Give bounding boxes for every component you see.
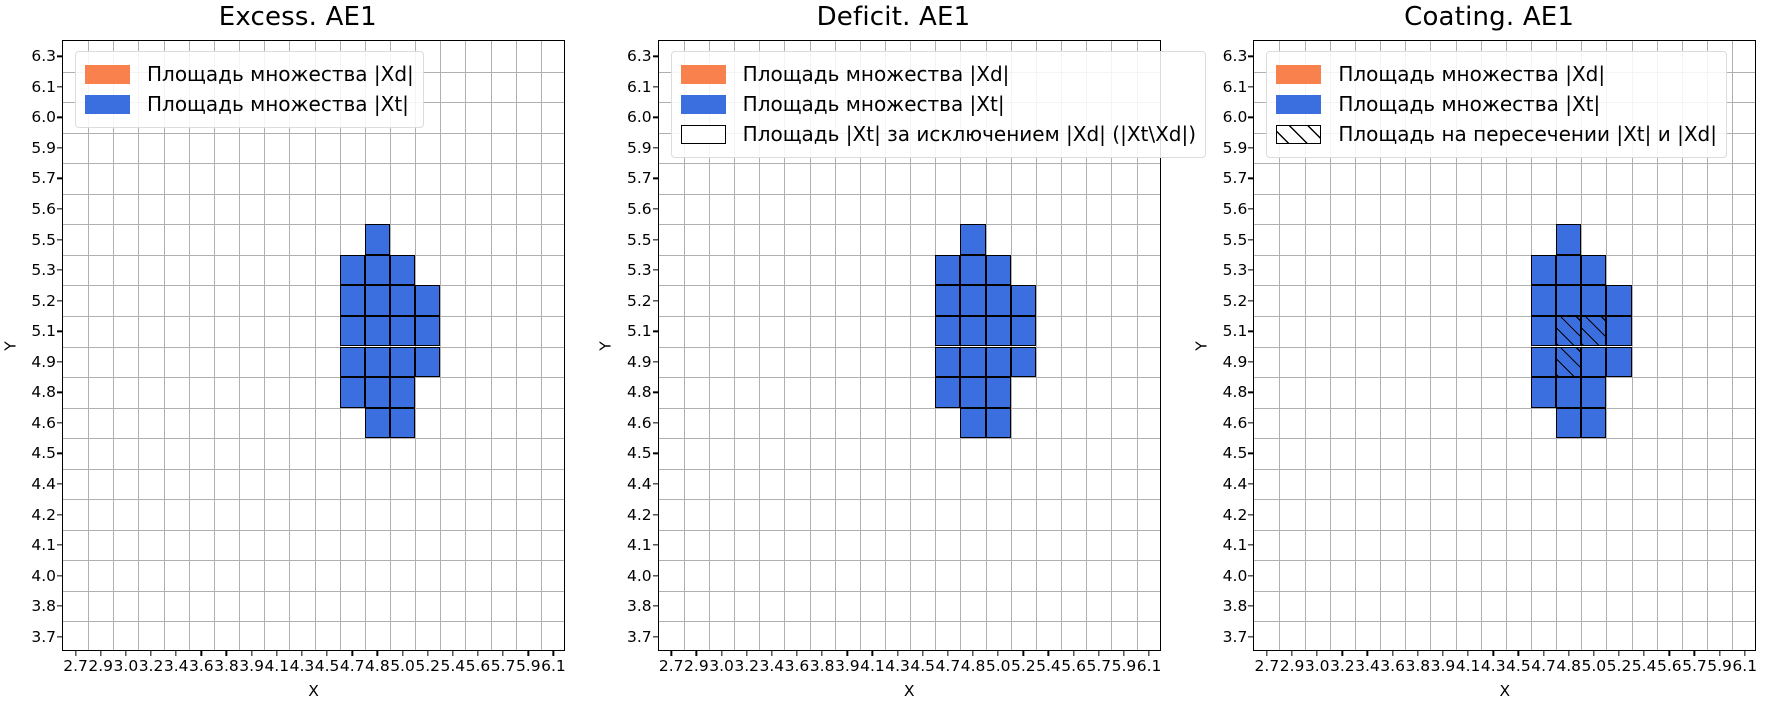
grid-line-horizontal xyxy=(1254,469,1755,470)
x-tick-mark xyxy=(1098,650,1099,656)
legend-swatch-hatch-icon xyxy=(1276,125,1321,144)
grid-line-horizontal xyxy=(659,347,1160,348)
y-tick-label: 5.6 xyxy=(31,200,56,218)
y-tick-label: 3.7 xyxy=(1223,628,1248,646)
x-tick-mark xyxy=(125,650,126,656)
x-tick-label: 4.5 xyxy=(910,657,935,675)
grid-line-horizontal xyxy=(659,408,1160,409)
y-tick-label: 4.8 xyxy=(1223,383,1248,401)
x-tick-mark xyxy=(1342,650,1343,656)
y-tick-label: 4.6 xyxy=(1223,414,1248,432)
x-tick-label: 2.9 xyxy=(1280,657,1305,675)
grid-cell-xt xyxy=(960,408,985,439)
y-tick-label: 5.1 xyxy=(627,322,652,340)
grid-line-horizontal xyxy=(1254,224,1755,225)
grid-cell-xt xyxy=(1606,347,1631,378)
legend-label-xt: Площадь множества |Xt| xyxy=(1338,94,1600,114)
y-tick-mark xyxy=(1248,544,1254,545)
y-tick-mark xyxy=(57,575,63,576)
grid-line-horizontal xyxy=(659,621,1160,622)
y-tick-mark xyxy=(1248,331,1254,332)
grid-line-horizontal xyxy=(63,133,564,134)
x-tick-mark xyxy=(1023,650,1024,656)
y-tick-mark xyxy=(653,86,659,87)
legend-label-xd: Площадь множества |Xd| xyxy=(743,64,1010,84)
grid-cell-xt xyxy=(365,224,390,255)
x-tick-label: 4.1 xyxy=(1456,657,1481,675)
x-tick-mark xyxy=(1442,650,1443,656)
grid-cell-xt xyxy=(390,377,415,408)
legend-label-xt: Площадь множества |Xt| xyxy=(147,94,409,114)
x-tick-mark xyxy=(696,650,697,656)
grid-cell-intersection xyxy=(1556,347,1581,378)
y-tick-mark xyxy=(653,331,659,332)
x-tick-label: 3.8 xyxy=(214,657,239,675)
y-tick-mark xyxy=(57,606,63,607)
x-tick-mark xyxy=(352,650,353,656)
y-tick-label: 5.3 xyxy=(31,261,56,279)
y-tick-label: 6.3 xyxy=(31,47,56,65)
y-tick-label: 4.9 xyxy=(31,353,56,371)
grid-cell-xt xyxy=(365,377,390,408)
y-tick-mark xyxy=(653,269,659,270)
x-tick-mark xyxy=(553,650,554,656)
x-tick-label: 5.6 xyxy=(1657,657,1682,675)
x-tick-mark xyxy=(947,650,948,656)
x-tick-label: 3.9 xyxy=(1431,657,1456,675)
grid-cell-xt xyxy=(1556,408,1581,439)
y-tick-mark xyxy=(653,361,659,362)
y-tick-label: 6.1 xyxy=(1223,78,1248,96)
y-tick-mark xyxy=(1248,269,1254,270)
x-tick-label: 4.3 xyxy=(1481,657,1506,675)
grid-cell-xt xyxy=(340,255,365,286)
x-tick-label: 3.8 xyxy=(810,657,835,675)
y-tick-label: 5.2 xyxy=(1223,292,1248,310)
grid-cell-xt xyxy=(1581,285,1606,316)
y-tick-label: 5.2 xyxy=(627,292,652,310)
y-tick-mark xyxy=(653,300,659,301)
x-tick-label: 3.4 xyxy=(1355,657,1380,675)
y-tick-label: 6.0 xyxy=(31,108,56,126)
x-tick-mark xyxy=(1123,650,1124,656)
y-tick-mark xyxy=(57,178,63,179)
grid-line-horizontal xyxy=(659,591,1160,592)
x-tick-mark xyxy=(847,650,848,656)
grid-cell-xt xyxy=(415,285,440,316)
grid-cell-xt xyxy=(390,255,415,286)
panel-deficit: Deficit. AE1 Площадь множества |Xd| Площ… xyxy=(596,0,1192,709)
panel-title-deficit: Deficit. AE1 xyxy=(596,2,1192,32)
grid-cell-xt xyxy=(960,255,985,286)
grid-cell-xt xyxy=(986,377,1011,408)
x-tick-label: 5.7 xyxy=(1086,657,1111,675)
y-tick-label: 4.0 xyxy=(627,567,652,585)
grid-line-horizontal xyxy=(63,560,564,561)
x-tick-mark xyxy=(502,650,503,656)
grid-line-horizontal xyxy=(63,377,564,378)
y-tick-label: 5.1 xyxy=(1223,322,1248,340)
axes-deficit: Площадь множества |Xd| Площадь множества… xyxy=(658,40,1161,651)
x-tick-label: 5.6 xyxy=(1061,657,1086,675)
legend-row-xd: Площадь множества |Xd| xyxy=(1276,59,1717,89)
y-tick-label: 4.4 xyxy=(1223,475,1248,493)
y-tick-label: 4.5 xyxy=(31,444,56,462)
y-tick-mark xyxy=(57,117,63,118)
y-tick-label: 5.7 xyxy=(31,169,56,187)
grid-cell-xt xyxy=(390,285,415,316)
x-tick-label: 4.1 xyxy=(860,657,885,675)
y-tick-label: 6.1 xyxy=(627,78,652,96)
y-tick-mark xyxy=(1248,636,1254,637)
grid-cell-xt xyxy=(1581,377,1606,408)
x-tick-mark xyxy=(1618,650,1619,656)
legend-row-xt: Площадь множества |Xt| xyxy=(85,89,414,119)
x-tick-label: 2.9 xyxy=(88,657,113,675)
legend-label-xt-minus-xd: Площадь |Xt| за исключением |Xd| (|Xt\Xd… xyxy=(743,124,1196,144)
grid-line-horizontal xyxy=(659,530,1160,531)
y-tick-mark xyxy=(1248,239,1254,240)
grid-line-horizontal xyxy=(63,347,564,348)
grid-cell-xt xyxy=(415,347,440,378)
x-tick-mark xyxy=(1317,650,1318,656)
x-tick-mark xyxy=(796,650,797,656)
grid-line-horizontal xyxy=(1254,163,1755,164)
x-tick-label: 2.7 xyxy=(63,657,88,675)
y-tick-label: 5.2 xyxy=(31,292,56,310)
x-tick-label: 4.8 xyxy=(961,657,986,675)
x-tick-label: 5.9 xyxy=(1112,657,1137,675)
y-tick-mark xyxy=(653,636,659,637)
grid-line-horizontal xyxy=(659,469,1160,470)
x-tick-label: 4.1 xyxy=(264,657,289,675)
xaxis-label-deficit: X xyxy=(659,682,1160,700)
x-tick-mark xyxy=(1543,650,1544,656)
grid-cell-xt xyxy=(1011,285,1036,316)
y-tick-mark xyxy=(57,636,63,637)
legend-row-xt-minus-xd: Площадь |Xt| за исключением |Xd| (|Xt\Xd… xyxy=(681,119,1196,149)
y-tick-label: 4.2 xyxy=(627,506,652,524)
y-tick-label: 4.6 xyxy=(627,414,652,432)
x-tick-mark xyxy=(1694,650,1695,656)
x-tick-label: 2.9 xyxy=(684,657,709,675)
grid-cell-xt xyxy=(960,347,985,378)
yaxis-label-deficit: Y xyxy=(597,341,615,350)
x-tick-mark xyxy=(746,650,747,656)
grid-line-horizontal xyxy=(1254,194,1755,195)
grid-cell-xt xyxy=(1606,316,1631,347)
y-tick-label: 3.7 xyxy=(627,628,652,646)
y-tick-mark xyxy=(57,331,63,332)
grid-cell-xt xyxy=(340,347,365,378)
y-tick-mark xyxy=(1248,86,1254,87)
grid-cell-xt xyxy=(365,285,390,316)
y-tick-mark xyxy=(57,361,63,362)
x-tick-label: 3.6 xyxy=(785,657,810,675)
y-tick-label: 5.7 xyxy=(1223,169,1248,187)
legend-swatch-open-icon xyxy=(681,125,726,144)
y-tick-label: 5.3 xyxy=(627,261,652,279)
legend-label-xt: Площадь множества |Xt| xyxy=(743,94,1005,114)
x-tick-label: 5.6 xyxy=(466,657,491,675)
x-tick-label: 3.6 xyxy=(1380,657,1405,675)
grid-line-horizontal xyxy=(659,438,1160,439)
grid-line-horizontal xyxy=(659,255,1160,256)
x-tick-mark xyxy=(922,650,923,656)
x-tick-mark xyxy=(251,650,252,656)
x-tick-mark xyxy=(1291,650,1292,656)
x-tick-mark xyxy=(998,650,999,656)
legend-label-xd: Площадь множества |Xd| xyxy=(1338,64,1605,84)
grid-line-horizontal xyxy=(659,499,1160,500)
grid-cell-xt xyxy=(415,316,440,347)
x-tick-label: 3.2 xyxy=(139,657,164,675)
xaxis-label-coating: X xyxy=(1254,682,1755,700)
x-tick-mark xyxy=(1744,650,1745,656)
x-tick-label: 3.2 xyxy=(1330,657,1355,675)
legend-swatch-xd-icon xyxy=(681,65,726,84)
panel-title-coating: Coating. AE1 xyxy=(1191,2,1787,32)
x-tick-label: 4.3 xyxy=(290,657,315,675)
grid-line-horizontal xyxy=(1254,285,1755,286)
y-tick-label: 4.2 xyxy=(1223,506,1248,524)
y-tick-label: 5.9 xyxy=(1223,139,1248,157)
grid-line-horizontal xyxy=(63,316,564,317)
x-tick-mark xyxy=(972,650,973,656)
grid-cell-xt xyxy=(960,224,985,255)
grid-cell-xt xyxy=(935,285,960,316)
y-tick-mark xyxy=(653,606,659,607)
y-tick-label: 5.6 xyxy=(627,200,652,218)
y-tick-label: 4.4 xyxy=(31,475,56,493)
x-tick-mark xyxy=(721,650,722,656)
x-tick-label: 3.9 xyxy=(835,657,860,675)
y-tick-mark xyxy=(1248,178,1254,179)
y-tick-mark xyxy=(653,422,659,423)
yaxis-label-excess: Y xyxy=(1,341,19,350)
x-tick-mark xyxy=(226,650,227,656)
x-tick-mark xyxy=(1266,650,1267,656)
legend-row-xt: Площадь множества |Xt| xyxy=(1276,89,1717,119)
grid-line-horizontal xyxy=(659,377,1160,378)
y-tick-mark xyxy=(653,483,659,484)
panel-coating: Coating. AE1 Площадь множества |Xd| Площ… xyxy=(1191,0,1787,709)
grid-cell-xt xyxy=(1531,377,1556,408)
x-tick-label: 3.9 xyxy=(239,657,264,675)
grid-line-horizontal xyxy=(1254,377,1755,378)
y-tick-mark xyxy=(1248,514,1254,515)
grid-line-horizontal xyxy=(1254,347,1755,348)
grid-cell-xt xyxy=(935,347,960,378)
x-tick-label: 4.5 xyxy=(1506,657,1531,675)
x-tick-mark xyxy=(1467,650,1468,656)
grid-line-horizontal xyxy=(63,499,564,500)
grid-cell-xt xyxy=(340,285,365,316)
y-tick-mark xyxy=(57,514,63,515)
grid-line-horizontal xyxy=(659,194,1160,195)
x-tick-label: 3.2 xyxy=(734,657,759,675)
x-tick-label: 3.0 xyxy=(709,657,734,675)
y-tick-mark xyxy=(653,117,659,118)
legend-row-xd: Площадь множества |Xd| xyxy=(85,59,414,89)
x-tick-label: 4.8 xyxy=(1556,657,1581,675)
x-tick-mark xyxy=(1148,650,1149,656)
x-tick-mark xyxy=(671,650,672,656)
grid-line-horizontal xyxy=(63,438,564,439)
x-tick-label: 5.0 xyxy=(390,657,415,675)
y-tick-label: 4.5 xyxy=(1223,444,1248,462)
x-tick-mark xyxy=(427,650,428,656)
grid-cell-xt xyxy=(1606,285,1631,316)
x-tick-mark xyxy=(276,650,277,656)
x-tick-mark xyxy=(100,650,101,656)
grid-line-horizontal xyxy=(63,285,564,286)
y-tick-label: 4.0 xyxy=(1223,567,1248,585)
x-tick-label: 5.7 xyxy=(1682,657,1707,675)
grid-line-horizontal xyxy=(1254,499,1755,500)
grid-cell-xt xyxy=(986,255,1011,286)
grid-line-horizontal xyxy=(659,316,1160,317)
x-tick-mark xyxy=(452,650,453,656)
x-tick-label: 5.4 xyxy=(1632,657,1657,675)
x-tick-mark xyxy=(301,650,302,656)
y-tick-label: 6.3 xyxy=(1223,47,1248,65)
x-tick-label: 6.1 xyxy=(541,657,566,675)
x-tick-label: 2.7 xyxy=(659,657,684,675)
grid-cell-xt xyxy=(1531,255,1556,286)
grid-line-horizontal xyxy=(659,163,1160,164)
grid-cell-intersection xyxy=(1556,316,1581,347)
y-tick-mark xyxy=(57,453,63,454)
grid-cell-intersection xyxy=(1581,316,1606,347)
y-tick-mark xyxy=(57,544,63,545)
grid-cell-xt xyxy=(365,316,390,347)
grid-cell-xt xyxy=(1556,255,1581,286)
y-tick-mark xyxy=(1248,300,1254,301)
y-tick-label: 4.1 xyxy=(1223,536,1248,554)
grid-cell-xt xyxy=(1011,347,1036,378)
y-tick-label: 4.2 xyxy=(31,506,56,524)
x-tick-mark xyxy=(1417,650,1418,656)
grid-cell-xt xyxy=(1011,316,1036,347)
x-tick-mark xyxy=(1568,650,1569,656)
y-tick-label: 3.7 xyxy=(31,628,56,646)
y-tick-mark xyxy=(57,208,63,209)
grid-cell-xt xyxy=(935,255,960,286)
y-tick-mark xyxy=(653,56,659,57)
y-tick-mark xyxy=(1248,422,1254,423)
x-tick-label: 5.4 xyxy=(1036,657,1061,675)
y-tick-label: 5.5 xyxy=(31,231,56,249)
grid-cell-xt xyxy=(960,316,985,347)
grid-line-horizontal xyxy=(1254,316,1755,317)
x-tick-mark xyxy=(1518,650,1519,656)
grid-line-horizontal xyxy=(63,194,564,195)
y-tick-mark xyxy=(1248,147,1254,148)
y-tick-mark xyxy=(57,392,63,393)
x-tick-mark xyxy=(1643,650,1644,656)
legend-swatch-xt-icon xyxy=(681,95,726,114)
x-tick-mark xyxy=(821,650,822,656)
legend-label-xd: Площадь множества |Xd| xyxy=(147,64,414,84)
y-tick-label: 4.1 xyxy=(627,536,652,554)
x-tick-label: 3.4 xyxy=(164,657,189,675)
x-tick-label: 3.6 xyxy=(189,657,214,675)
x-tick-mark xyxy=(528,650,529,656)
x-tick-mark xyxy=(1367,650,1368,656)
x-tick-label: 3.0 xyxy=(1305,657,1330,675)
y-tick-label: 4.6 xyxy=(31,414,56,432)
y-tick-label: 4.8 xyxy=(627,383,652,401)
y-tick-label: 6.0 xyxy=(627,108,652,126)
grid-line-horizontal xyxy=(659,224,1160,225)
grid-line-horizontal xyxy=(1254,408,1755,409)
grid-cell-xt xyxy=(1531,347,1556,378)
x-tick-label: 6.1 xyxy=(1732,657,1757,675)
x-tick-mark xyxy=(897,650,898,656)
y-tick-label: 6.1 xyxy=(31,78,56,96)
y-tick-label: 5.5 xyxy=(1223,231,1248,249)
y-tick-mark xyxy=(653,147,659,148)
x-tick-mark xyxy=(402,650,403,656)
x-tick-label: 5.4 xyxy=(440,657,465,675)
y-tick-label: 4.8 xyxy=(31,383,56,401)
grid-line-horizontal xyxy=(659,285,1160,286)
x-tick-mark xyxy=(1493,650,1494,656)
y-tick-mark xyxy=(57,86,63,87)
legend-row-xt: Площадь множества |Xt| xyxy=(681,89,1196,119)
y-tick-mark xyxy=(1248,483,1254,484)
x-tick-label: 4.5 xyxy=(315,657,340,675)
x-tick-label: 4.7 xyxy=(936,657,961,675)
y-tick-mark xyxy=(57,239,63,240)
x-tick-label: 5.2 xyxy=(1607,657,1632,675)
grid-cell-xt xyxy=(1531,316,1556,347)
x-tick-label: 4.8 xyxy=(365,657,390,675)
y-tick-label: 3.8 xyxy=(1223,597,1248,615)
grid-cell-xt xyxy=(960,285,985,316)
grid-cell-xt xyxy=(1581,255,1606,286)
y-tick-mark xyxy=(653,514,659,515)
y-tick-label: 4.9 xyxy=(1223,353,1248,371)
x-tick-mark xyxy=(150,650,151,656)
y-tick-mark xyxy=(57,269,63,270)
panel-excess: Excess. AE1 Площадь множества |Xd| Площа… xyxy=(0,0,596,709)
x-tick-mark xyxy=(771,650,772,656)
x-tick-mark xyxy=(1048,650,1049,656)
y-tick-mark xyxy=(57,483,63,484)
grid-cell-xt xyxy=(340,377,365,408)
grid-cell-xt xyxy=(365,347,390,378)
y-tick-label: 5.9 xyxy=(627,139,652,157)
x-tick-label: 5.0 xyxy=(986,657,1011,675)
x-tick-mark xyxy=(326,650,327,656)
x-tick-label: 4.3 xyxy=(885,657,910,675)
y-tick-label: 4.1 xyxy=(31,536,56,554)
y-tick-mark xyxy=(57,300,63,301)
grid-cell-xt xyxy=(365,408,390,439)
grid-cell-xt xyxy=(340,316,365,347)
grid-cell-xt xyxy=(390,347,415,378)
y-tick-label: 5.6 xyxy=(1223,200,1248,218)
grid-line-horizontal xyxy=(1254,560,1755,561)
y-tick-label: 5.7 xyxy=(627,169,652,187)
y-tick-mark xyxy=(57,147,63,148)
y-tick-label: 5.5 xyxy=(627,231,652,249)
legend-swatch-xt-icon xyxy=(85,95,130,114)
grid-cell-xt xyxy=(1581,408,1606,439)
legend-swatch-xd-icon xyxy=(1276,65,1321,84)
